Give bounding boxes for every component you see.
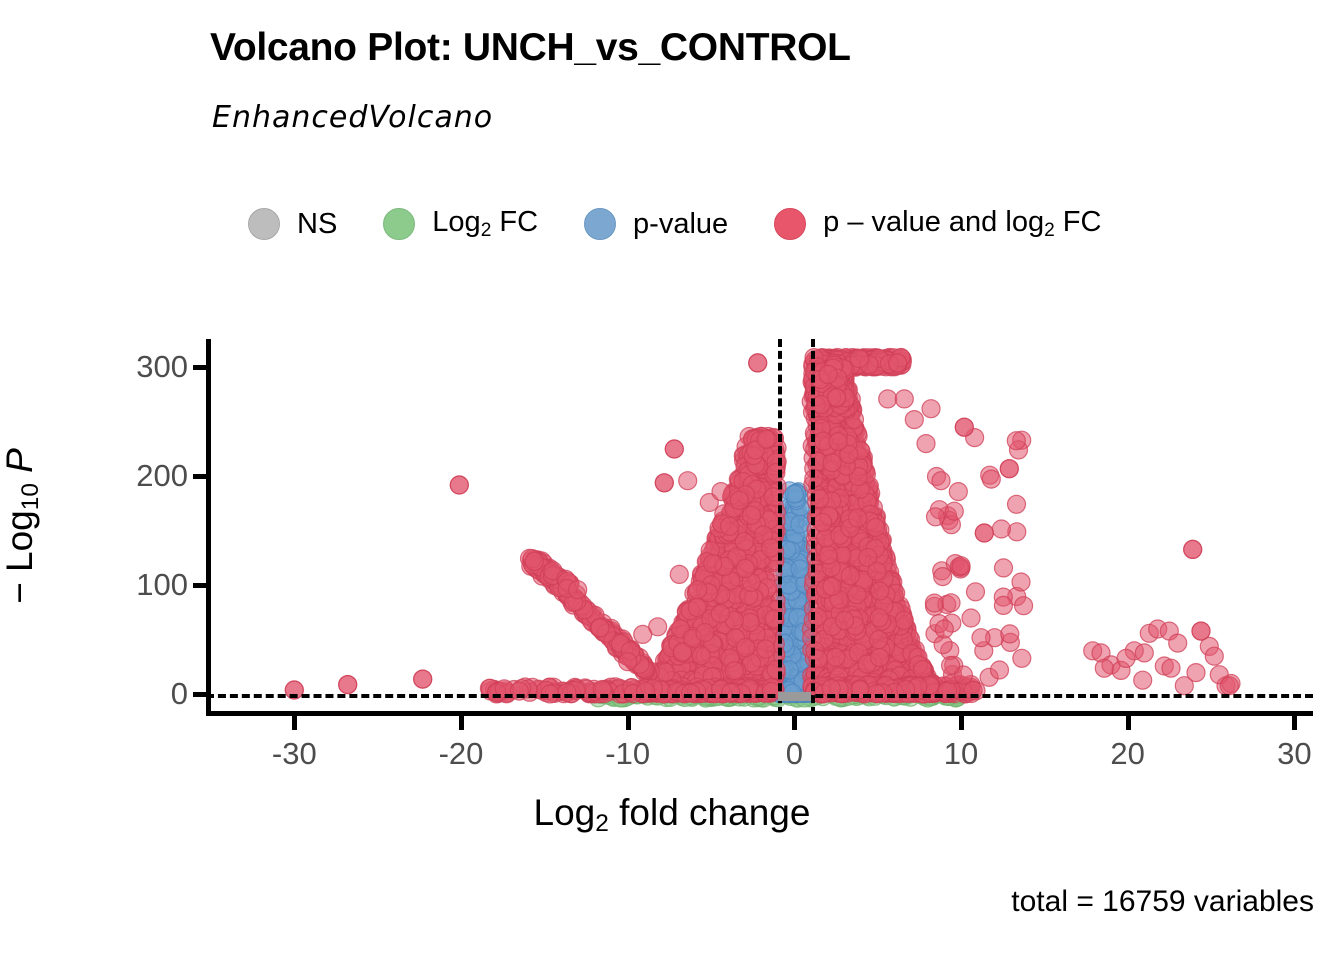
point-pvalue-and-log2fc [835, 450, 853, 468]
point-pvalue [783, 646, 801, 664]
point-pvalue-and-log2fc [662, 661, 680, 679]
point-pvalue-and-log2fc [895, 611, 913, 629]
point-pvalue-and-log2fc [704, 542, 722, 560]
point-pvalue-and-log2fc [870, 351, 888, 369]
point-pvalue-and-log2fc [666, 657, 684, 675]
point-pvalue-and-log2fc [832, 650, 850, 668]
point-pvalue-and-log2fc [914, 661, 932, 679]
point-pvalue-and-log2fc [750, 684, 768, 702]
point-pvalue-and-log2fc [840, 516, 858, 534]
point-pvalue [788, 484, 806, 502]
point-pvalue-and-log2fc [687, 650, 705, 668]
point-pvalue-and-log2fc [904, 655, 922, 673]
point-pvalue-and-log2fc [839, 353, 857, 371]
point-pvalue-and-log2fc [827, 572, 845, 590]
point-pvalue-and-log2fc [721, 607, 739, 625]
point-pvalue-and-log2fc [827, 350, 845, 368]
point-pvalue-and-log2fc [856, 672, 874, 690]
point-pvalue-and-log2fc [721, 614, 739, 632]
point-pvalue-and-log2fc [824, 515, 842, 533]
point-pvalue-and-log2fc [633, 657, 651, 675]
point-pvalue-and-log2fc [843, 398, 861, 416]
point-pvalue-and-log2fc [842, 390, 860, 408]
point-pvalue-and-log2fc [813, 621, 831, 639]
point-pvalue-and-log2fc [698, 661, 716, 679]
point-pvalue [785, 660, 803, 678]
point-pvalue-and-log2fc [852, 648, 870, 666]
point-pvalue-and-log2fc [835, 506, 853, 524]
point-pvalue-and-log2fc [832, 386, 850, 404]
point-pvalue-and-log2fc [856, 642, 874, 660]
point-pvalue-and-log2fc [944, 666, 962, 684]
point-pvalue [791, 644, 809, 662]
point-pvalue-and-log2fc [824, 359, 842, 377]
point-pvalue-and-log2fc [670, 653, 688, 671]
point-pvalue-and-log2fc [909, 656, 927, 674]
point-pvalue-and-log2fc [667, 627, 685, 645]
point-pvalue-and-log2fc [1008, 588, 1026, 606]
point-pvalue-and-log2fc [721, 683, 739, 701]
point-pvalue-and-log2fc [905, 664, 923, 682]
point-pvalue-and-log2fc [884, 675, 902, 693]
point-pvalue-and-log2fc [840, 663, 858, 681]
point-pvalue-and-log2fc [813, 405, 831, 423]
point-pvalue-and-log2fc [860, 495, 878, 513]
point-pvalue-and-log2fc [890, 612, 908, 630]
point-pvalue-and-log2fc [742, 632, 760, 650]
point-pvalue-and-log2fc [820, 444, 838, 462]
point-pvalue-and-log2fc [825, 369, 843, 387]
point-pvalue-and-log2fc [815, 577, 833, 595]
point-pvalue-and-log2fc [841, 523, 859, 541]
point-pvalue-and-log2fc [744, 447, 762, 465]
point-pvalue-and-log2fc [807, 354, 825, 372]
point-pvalue-and-log2fc [663, 672, 681, 690]
point-pvalue-and-log2fc [599, 624, 617, 642]
point-pvalue [781, 628, 799, 646]
point-pvalue-and-log2fc [540, 561, 558, 579]
point-pvalue-and-log2fc [842, 502, 860, 520]
point-pvalue-and-log2fc [878, 618, 896, 636]
point-pvalue-and-log2fc [724, 572, 742, 590]
point-pvalue-and-log2fc [837, 350, 855, 368]
point-pvalue-and-log2fc [862, 528, 880, 546]
point-pvalue-and-log2fc [842, 458, 860, 476]
point-pvalue-and-log2fc [628, 656, 646, 674]
point-pvalue-and-log2fc [869, 651, 887, 669]
point-pvalue-and-log2fc [823, 372, 841, 390]
point-pvalue-and-log2fc [904, 649, 922, 667]
point-pvalue-and-log2fc [760, 433, 778, 451]
point-pvalue-and-log2fc [734, 645, 752, 663]
point-pvalue-and-log2fc [819, 356, 837, 374]
point-pvalue-and-log2fc [757, 476, 775, 494]
point-pvalue-and-log2fc [698, 647, 716, 665]
point-pvalue-and-log2fc [697, 684, 715, 702]
point-pvalue-and-log2fc [817, 580, 835, 598]
point-pvalue-and-log2fc [821, 540, 839, 558]
point-pvalue-and-log2fc [743, 491, 761, 509]
point-pvalue-and-log2fc [578, 605, 596, 623]
point-pvalue-and-log2fc [571, 594, 589, 612]
point-pvalue-and-log2fc [594, 614, 612, 632]
point-pvalue-and-log2fc [870, 584, 888, 602]
legend-gap-3 [728, 224, 774, 225]
point-pvalue-and-log2fc [937, 683, 955, 701]
point-pvalue-and-log2fc [827, 417, 845, 435]
point-pvalue-and-log2fc [754, 547, 772, 565]
point-pvalue-and-log2fc [743, 476, 761, 494]
point-pvalue-and-log2fc [890, 645, 908, 663]
point-pvalue-and-log2fc [835, 469, 853, 487]
point-pvalue-and-log2fc [636, 684, 654, 702]
point-pvalue-and-log2fc [701, 684, 719, 702]
point-pvalue-and-log2fc [749, 428, 767, 446]
point-pvalue-and-log2fc [822, 425, 840, 443]
point-pvalue-and-log2fc [820, 514, 838, 532]
point-pvalue-and-log2fc [720, 598, 738, 616]
y-tick-mark [193, 692, 206, 697]
point-pvalue-and-log2fc [726, 501, 744, 519]
point-pvalue-and-log2fc [642, 684, 660, 702]
point-pvalue-and-log2fc [820, 609, 838, 627]
point-pvalue-and-log2fc [828, 493, 846, 511]
point-pvalue-and-log2fc [829, 402, 847, 420]
point-pvalue-and-log2fc [821, 369, 839, 387]
point-pvalue-and-log2fc [955, 677, 973, 695]
point-pvalue-and-log2fc [681, 622, 699, 640]
point-pvalue-and-log2fc [848, 570, 866, 588]
point-pvalue-and-log2fc [992, 520, 1010, 538]
point-pvalue-and-log2fc [952, 559, 970, 577]
point-pvalue-and-log2fc [820, 507, 838, 525]
point-pvalue-and-log2fc [748, 499, 766, 517]
point-pvalue-and-log2fc [729, 495, 747, 513]
point-pvalue-and-log2fc [838, 658, 856, 676]
point-pvalue [782, 567, 800, 585]
legend-item-pvalue[interactable]: p-value [584, 208, 728, 241]
point-pvalue-and-log2fc [631, 655, 649, 673]
point-pvalue-and-log2fc [837, 409, 855, 427]
point-pvalue-and-log2fc [739, 581, 757, 599]
point-pvalue-and-log2fc [899, 649, 917, 667]
x-tick-label: 0 [786, 736, 803, 772]
point-pvalue-and-log2fc [761, 444, 779, 462]
point-pvalue-and-log2fc [579, 683, 597, 701]
point-pvalue-and-log2fc [537, 684, 555, 702]
legend-item-pvalue-and-log2fc[interactable]: p – value and log2 FC [774, 206, 1101, 242]
point-pvalue-and-log2fc [863, 350, 881, 368]
point-pvalue-and-log2fc [885, 602, 903, 620]
point-pvalue-and-log2fc [714, 550, 732, 568]
point-pvalue-and-log2fc [874, 677, 892, 695]
point-pvalue-and-log2fc [855, 571, 873, 589]
point-pvalue-and-log2fc [744, 430, 762, 448]
point-pvalue [784, 627, 802, 645]
point-pvalue-and-log2fc [717, 590, 735, 608]
point-pvalue-and-log2fc [867, 358, 885, 376]
point-pvalue-and-log2fc [834, 492, 852, 510]
point-pvalue-and-log2fc [596, 621, 614, 639]
point-pvalue-and-log2fc [898, 620, 916, 638]
point-pvalue-and-log2fc [733, 498, 751, 516]
point-pvalue-and-log2fc [749, 448, 767, 466]
point-pvalue-and-log2fc [888, 684, 906, 702]
point-pvalue-and-log2fc [830, 421, 848, 439]
point-pvalue-and-log2fc [860, 486, 878, 504]
point-pvalue-and-log2fc [693, 618, 711, 636]
point-pvalue-and-log2fc [900, 673, 918, 691]
point-pvalue-and-log2fc [848, 622, 866, 640]
point-pvalue-and-log2fc [846, 619, 864, 637]
x-axis-line [206, 711, 1313, 716]
point-pvalue-and-log2fc [602, 624, 620, 642]
point-pvalue-and-log2fc [830, 525, 848, 543]
point-pvalue-and-log2fc [852, 471, 870, 489]
point-pvalue-and-log2fc [864, 358, 882, 376]
point-pvalue-and-log2fc [821, 665, 839, 683]
point-pvalue-and-log2fc [823, 598, 841, 616]
point-pvalue-and-log2fc [860, 621, 878, 639]
point-pvalue-and-log2fc [659, 684, 677, 702]
point-pvalue-and-log2fc [733, 483, 751, 501]
point-pvalue-and-log2fc [745, 502, 763, 520]
point-pvalue-and-log2fc [685, 585, 703, 603]
point-pvalue-and-log2fc [677, 613, 695, 631]
point-pvalue-and-log2fc [872, 566, 890, 584]
point-pvalue-and-log2fc [878, 351, 896, 369]
point-pvalue-and-log2fc [706, 683, 724, 701]
point-pvalue-and-log2fc [816, 392, 834, 410]
point-pvalue-and-log2fc [909, 648, 927, 666]
point-pvalue [780, 641, 798, 659]
point-pvalue-and-log2fc [737, 672, 755, 690]
point-pvalue-and-log2fc [560, 575, 578, 593]
point-pvalue-and-log2fc [847, 434, 865, 452]
point-pvalue-and-log2fc [1210, 666, 1228, 684]
point-pvalue-and-log2fc [732, 493, 750, 511]
point-pvalue-and-log2fc [882, 622, 900, 640]
point-pvalue [793, 551, 811, 569]
point-pvalue-and-log2fc [847, 490, 865, 508]
point-pvalue-and-log2fc [712, 586, 730, 604]
point-pvalue-and-log2fc [702, 677, 720, 695]
point-pvalue-and-log2fc [868, 352, 886, 370]
point-pvalue-and-log2fc [893, 626, 911, 644]
point-pvalue-and-log2fc [841, 405, 859, 423]
point-pvalue-and-log2fc [728, 583, 746, 601]
point-pvalue-and-log2fc [626, 646, 644, 664]
point-pvalue-and-log2fc [561, 575, 579, 593]
point-pvalue-and-log2fc [845, 618, 863, 636]
point-pvalue-and-log2fc [827, 677, 845, 695]
point-pvalue-and-log2fc [707, 614, 725, 632]
point-pvalue-and-log2fc [916, 665, 934, 683]
point-pvalue-and-log2fc [697, 630, 715, 648]
point-pvalue-and-log2fc [952, 560, 970, 578]
point-pvalue-and-log2fc [745, 589, 763, 607]
point-pvalue-and-log2fc [817, 353, 835, 371]
point-pvalue [792, 606, 810, 624]
point-pvalue [785, 530, 803, 548]
point-pvalue-and-log2fc [653, 669, 671, 687]
point-pvalue [790, 635, 808, 653]
point-pvalue-and-log2fc [878, 352, 896, 370]
point-pvalue-and-log2fc [550, 569, 568, 587]
point-pvalue-and-log2fc [730, 488, 748, 506]
point-pvalue-and-log2fc [558, 580, 576, 598]
point-pvalue-and-log2fc [874, 608, 892, 626]
point-pvalue-and-log2fc [727, 578, 745, 596]
point-pvalue [786, 667, 804, 685]
point-pvalue-and-log2fc [695, 650, 713, 668]
point-pvalue-and-log2fc [521, 549, 539, 567]
point-pvalue-and-log2fc [837, 403, 855, 421]
point-pvalue-and-log2fc [751, 582, 769, 600]
point-pvalue-and-log2fc [870, 646, 888, 664]
point-pvalue-and-log2fc [882, 358, 900, 376]
point-pvalue-and-log2fc [928, 468, 946, 486]
point-pvalue-and-log2fc [927, 683, 945, 701]
point-pvalue-and-log2fc [637, 662, 655, 680]
point-pvalue-and-log2fc [924, 678, 942, 696]
point-pvalue-and-log2fc [817, 664, 835, 682]
point-pvalue-and-log2fc [487, 684, 505, 702]
legend-item-log2fc[interactable]: Log2 FC [383, 206, 538, 242]
point-pvalue-and-log2fc [904, 677, 922, 695]
point-pvalue-and-log2fc [822, 445, 840, 463]
point-pvalue-and-log2fc [884, 670, 902, 688]
point-pvalue-and-log2fc [832, 560, 850, 578]
point-pvalue-and-log2fc [747, 670, 765, 688]
point-pvalue-and-log2fc [578, 601, 596, 619]
point-pvalue-and-log2fc [837, 351, 855, 369]
point-pvalue-and-log2fc [845, 354, 863, 372]
point-pvalue-and-log2fc [741, 590, 759, 608]
point-pvalue-and-log2fc [675, 625, 693, 643]
point-pvalue-and-log2fc [845, 456, 863, 474]
point-pvalue-and-log2fc [886, 684, 904, 702]
point-pvalue-and-log2fc [864, 609, 882, 627]
point-pvalue-and-log2fc [849, 476, 867, 494]
point-pvalue-and-log2fc [754, 435, 772, 453]
point-pvalue-and-log2fc [837, 520, 855, 538]
point-pvalue-and-log2fc [706, 539, 724, 557]
point-pvalue-and-log2fc [862, 532, 880, 550]
point-pvalue-and-log2fc [701, 684, 719, 702]
point-pvalue-and-log2fc [886, 352, 904, 370]
point-pvalue-and-log2fc [846, 351, 864, 369]
point-pvalue-and-log2fc [662, 645, 680, 663]
point-pvalue-and-log2fc [701, 683, 719, 701]
point-pvalue-and-log2fc [725, 683, 743, 701]
point-pvalue-and-log2fc [568, 594, 586, 612]
point-pvalue-and-log2fc [725, 492, 743, 510]
point-pvalue-and-log2fc [725, 611, 743, 629]
point-pvalue-and-log2fc [834, 377, 852, 395]
point-pvalue-and-log2fc [879, 595, 897, 613]
point-pvalue-and-log2fc [875, 606, 893, 624]
point-pvalue-and-log2fc [745, 671, 763, 689]
point-pvalue [781, 636, 799, 654]
point-pvalue-and-log2fc [840, 485, 858, 503]
point-pvalue-and-log2fc [975, 642, 993, 660]
point-pvalue-and-log2fc [699, 622, 717, 640]
point-pvalue-and-log2fc [846, 419, 864, 437]
point-pvalue-and-log2fc [813, 435, 831, 453]
point-pvalue-and-log2fc [820, 395, 838, 413]
point-pvalue-and-log2fc [610, 634, 628, 652]
point-pvalue-and-log2fc [740, 664, 758, 682]
point-pvalue-and-log2fc [690, 595, 708, 613]
point-pvalue-and-log2fc [558, 586, 576, 604]
point-pvalue-and-log2fc [856, 540, 874, 558]
point-pvalue-and-log2fc [874, 542, 892, 560]
point-pvalue-and-log2fc [826, 419, 844, 437]
point-pvalue-and-log2fc [825, 562, 843, 580]
point-pvalue-and-log2fc [828, 605, 846, 623]
point-pvalue-and-log2fc [843, 674, 861, 692]
point-pvalue-and-log2fc [685, 658, 703, 676]
point-pvalue-and-log2fc [734, 665, 752, 683]
point-pvalue-and-log2fc [851, 518, 869, 536]
point-pvalue-and-log2fc [757, 640, 775, 658]
point-pvalue-and-log2fc [841, 579, 859, 597]
point-pvalue-and-log2fc [816, 363, 834, 381]
point-pvalue-and-log2fc [815, 683, 833, 701]
point-pvalue-and-log2fc [755, 590, 773, 608]
point-pvalue-and-log2fc [874, 648, 892, 666]
point-pvalue-and-log2fc [823, 554, 841, 572]
point-pvalue-and-log2fc [563, 593, 581, 611]
point-pvalue-and-log2fc [655, 474, 673, 492]
point-pvalue-and-log2fc [718, 674, 736, 692]
point-pvalue-and-log2fc [821, 389, 839, 407]
point-pvalue-and-log2fc [870, 547, 888, 565]
point-pvalue-and-log2fc [840, 463, 858, 481]
point-pvalue [784, 581, 802, 599]
point-pvalue-and-log2fc [737, 647, 755, 665]
point-pvalue-and-log2fc [899, 670, 917, 688]
point-pvalue-and-log2fc [1155, 657, 1173, 675]
point-pvalue-and-log2fc [739, 507, 757, 525]
point-pvalue-and-log2fc [826, 436, 844, 454]
point-pvalue-and-log2fc [832, 614, 850, 632]
point-pvalue-and-log2fc [847, 668, 865, 686]
point-pvalue-and-log2fc [634, 659, 652, 677]
point-pvalue-and-log2fc [840, 445, 858, 463]
point-pvalue-and-log2fc [839, 558, 857, 576]
point-pvalue-and-log2fc [696, 676, 714, 694]
point-pvalue-and-log2fc [915, 673, 933, 691]
legend-item-ns[interactable]: NS [248, 208, 337, 241]
point-pvalue-and-log2fc [822, 385, 840, 403]
point-pvalue-and-log2fc [818, 379, 836, 397]
point-pvalue-and-log2fc [737, 505, 755, 523]
point-pvalue-and-log2fc [840, 554, 858, 572]
point-pvalue-and-log2fc [684, 646, 702, 664]
point-pvalue-and-log2fc [862, 661, 880, 679]
point-pvalue-and-log2fc [531, 557, 549, 575]
point-pvalue-and-log2fc [832, 413, 850, 431]
point-pvalue-and-log2fc [752, 665, 770, 683]
point-pvalue-and-log2fc [532, 560, 550, 578]
point-pvalue-and-log2fc [726, 671, 744, 689]
point-pvalue-and-log2fc [871, 644, 889, 662]
point-pvalue-and-log2fc [818, 546, 836, 564]
point-pvalue-and-log2fc [817, 352, 835, 370]
point-pvalue-and-log2fc [660, 648, 678, 666]
